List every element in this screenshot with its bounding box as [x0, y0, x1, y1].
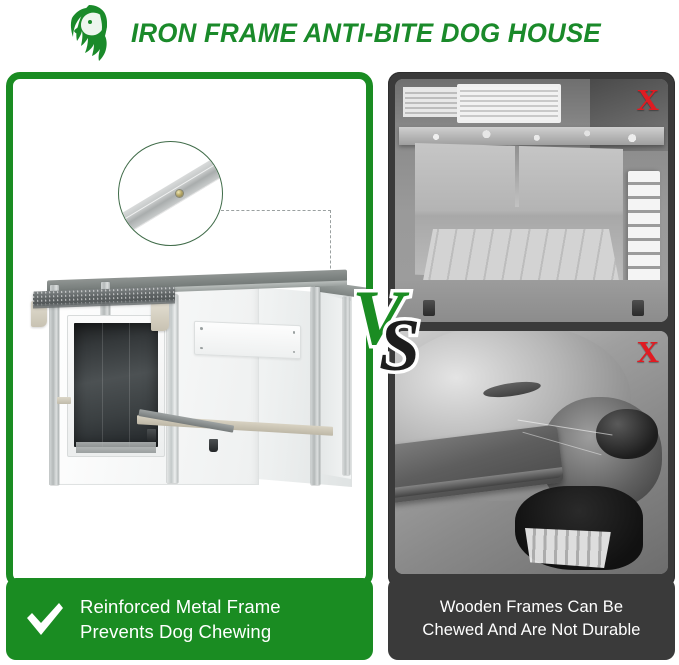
kennel-leg-right	[632, 300, 644, 316]
dog-teeth	[525, 528, 611, 568]
frame-post-rear	[343, 297, 350, 475]
pro-caption-line-2: Prevents Dog Chewing	[80, 622, 281, 641]
con-caption-banner: Wooden Frames Can Be Chewed And Are Not …	[388, 578, 675, 660]
door-flap	[74, 323, 158, 447]
red-x-icon: X	[637, 84, 659, 115]
chewed-side-boards	[628, 171, 660, 283]
versus-badge: V V S S	[354, 272, 430, 376]
check-icon	[24, 599, 66, 639]
svg-text:S: S	[379, 305, 420, 376]
metal-rail-detail	[118, 146, 223, 241]
window-blind-left	[403, 87, 463, 117]
red-x-icon: X	[637, 336, 659, 367]
frame-post-right	[311, 287, 320, 485]
pro-caption-line-1: Reinforced Metal Frame	[80, 597, 281, 616]
dog-head-icon	[59, 2, 121, 62]
house-foot-left	[147, 429, 156, 442]
callout-leader-horizontal	[221, 210, 331, 211]
header-bar: IRON FRAME ANTI-BITE DOG HOUSE	[0, 0, 679, 66]
kennel-photo-content	[395, 79, 668, 322]
ground-surface	[395, 280, 668, 322]
product-illustration-stage	[13, 79, 366, 581]
dog-chewing-wood-photo: X	[395, 331, 668, 574]
iron-frame-dog-house-illustration	[19, 257, 373, 517]
house-foot-right	[209, 439, 218, 452]
chewed-wooden-kennel-photo: X	[395, 79, 668, 322]
chewed-top-rail	[399, 127, 664, 145]
metal-frame-zoom-callout	[118, 141, 223, 246]
canopy-bracket-right	[151, 303, 169, 331]
dog-photo-content	[395, 331, 668, 574]
page-title: IRON FRAME ANTI-BITE DOG HOUSE	[131, 18, 601, 49]
door-threshold	[76, 442, 156, 453]
comparison-panel: X X	[388, 72, 675, 588]
house-nameplate	[194, 321, 301, 359]
pro-caption-banner: Reinforced Metal Frame Prevents Dog Chew…	[6, 578, 373, 660]
screw-icon	[176, 190, 183, 197]
frame-post-left	[50, 285, 59, 485]
pro-caption-text: Reinforced Metal Frame Prevents Dog Chew…	[80, 597, 281, 641]
con-caption-line-1: Wooden Frames Can Be	[440, 599, 623, 616]
frame-tab-left	[57, 397, 71, 404]
con-caption-line-2: Chewed And Are Not Durable	[422, 622, 640, 639]
product-panel	[6, 72, 373, 588]
window	[457, 84, 561, 123]
infographic-root: IRON FRAME ANTI-BITE DOG HOUSE	[0, 0, 679, 665]
